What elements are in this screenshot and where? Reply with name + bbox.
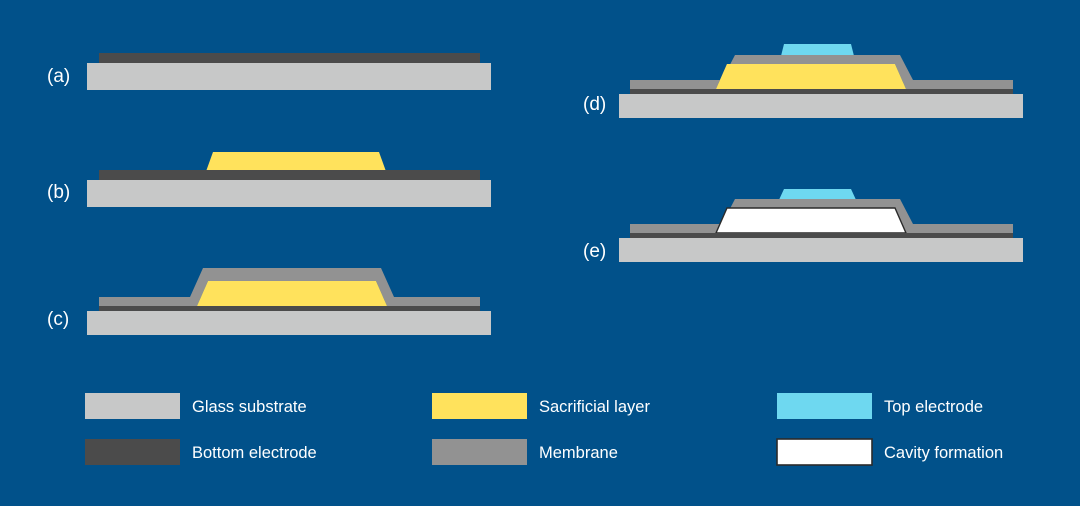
panel-b-label: (b) [47, 182, 70, 203]
glass-substrate-swatch [85, 393, 180, 419]
sacrificial-layer-swatch [432, 393, 527, 419]
panel-d-label: (d) [583, 94, 606, 115]
panel-d-sacrificial-layer [716, 64, 906, 89]
panel-c-sacrificial-layer [197, 281, 387, 306]
membrane-swatch [432, 439, 527, 465]
fabrication-process-diagram: (a) (b) (c) (d) (e) [0, 0, 1080, 506]
legend-label-sacrificial-layer: Sacrificial layer [539, 398, 650, 416]
panel-e-glass-substrate [619, 238, 1023, 262]
panel-e-cavity [716, 208, 906, 233]
panel-c-glass-substrate [87, 311, 491, 335]
panel-b-glass-substrate [87, 180, 491, 207]
panel-b-bottom-electrode [99, 170, 480, 180]
top-electrode-swatch [777, 393, 872, 419]
panel-e-label: (e) [583, 241, 606, 262]
panel-c-label: (c) [47, 309, 69, 330]
legend-label-cavity-formation: Cavity formation [884, 444, 1003, 462]
legend-label-top-electrode: Top electrode [884, 398, 983, 416]
panel-a-label: (a) [47, 66, 70, 87]
legend-label-glass-substrate: Glass substrate [192, 398, 307, 416]
panel-a: (a) [47, 53, 491, 90]
panel-a-glass-substrate [87, 63, 491, 90]
bottom-electrode-swatch [85, 439, 180, 465]
panel-d-glass-substrate [619, 94, 1023, 118]
panel-a-bottom-electrode [99, 53, 480, 63]
legend-label-bottom-electrode: Bottom electrode [192, 444, 317, 462]
legend-label-membrane: Membrane [539, 444, 618, 462]
cavity-formation-swatch [777, 439, 872, 465]
